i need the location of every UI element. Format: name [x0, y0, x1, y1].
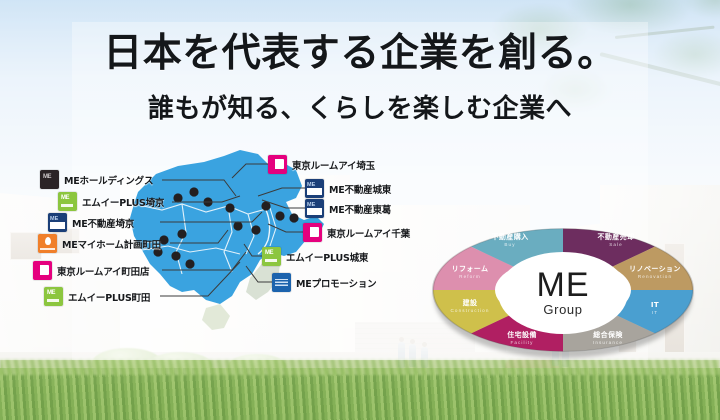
- me-fudosan-joto-logo-icon: [305, 179, 324, 198]
- map-label-me-plus-joto[interactable]: エムイーPLUS城東: [262, 247, 368, 266]
- map-label-text: エムイーPLUS埼京: [82, 195, 164, 209]
- me-plus-machida-logo-icon: [44, 287, 63, 306]
- hero-banner: 日本を代表する企業を創る。 誰もが知る、くらしを楽しむ企業へ: [0, 0, 720, 420]
- map-label-text: ME不動産城東: [329, 182, 391, 196]
- map-label-me-plus-saikyo[interactable]: エムイーPLUS埼京: [58, 192, 164, 211]
- map-label-text: ME不動産埼京: [72, 216, 134, 230]
- map-label-me-myhome-machida[interactable]: MEマイホーム計画町田: [38, 234, 161, 253]
- map-label-text: エムイーPLUS城東: [286, 250, 368, 264]
- map-label-text: 東京ルームアイ町田店: [57, 264, 149, 278]
- me-fudosan-tokatsu-logo-icon: [305, 199, 324, 218]
- tokyo-roomi-machida-logo-icon: [33, 261, 52, 280]
- me-promotion-logo-icon: [272, 273, 291, 292]
- me-holdings-logo-icon: [40, 170, 59, 189]
- headline-block: 日本を代表する企業を創る。 誰もが知る、くらしを楽しむ企業へ: [0, 32, 720, 125]
- map-label-me-promotion[interactable]: MEプロモーション: [272, 273, 376, 292]
- map-label-text: 東京ルームアイ埼玉: [292, 158, 375, 172]
- map-label-tokyo-roomi-saitama[interactable]: 東京ルームアイ埼玉: [268, 155, 375, 174]
- me-myhome-machida-logo-icon: [38, 234, 57, 253]
- map-label-text: ME不動産東葛: [329, 202, 391, 216]
- tokyo-roomi-chiba-logo-icon: [303, 223, 322, 242]
- me-plus-saikyo-logo-icon: [58, 192, 77, 211]
- map-label-text: エムイーPLUS町田: [68, 290, 150, 304]
- map-label-me-holdings[interactable]: MEホールディングス: [40, 170, 153, 189]
- tokyo-roomi-saitama-logo-icon: [268, 155, 287, 174]
- me-group-title: ME: [537, 269, 590, 301]
- map-label-tokyo-roomi-chiba[interactable]: 東京ルームアイ千葉: [303, 223, 410, 242]
- map-label-me-fudosan-saikyo[interactable]: ME不動産埼京: [48, 213, 134, 232]
- me-plus-joto-logo-icon: [262, 247, 281, 266]
- me-group-center: ME Group: [498, 252, 628, 334]
- map-label-text: MEホールディングス: [64, 173, 153, 187]
- headline-primary: 日本を代表する企業を創る。: [0, 32, 720, 76]
- map-label-text: 東京ルームアイ千葉: [327, 226, 410, 240]
- me-group-diagram: 不動産購入 Buy 不動産売却 Sale リノベーション Renovation …: [428, 224, 698, 362]
- hedge: [0, 368, 720, 420]
- me-fudosan-saikyo-logo-icon: [48, 213, 67, 232]
- map-label-tokyo-roomi-machida[interactable]: 東京ルームアイ町田店: [33, 261, 149, 280]
- headline-secondary: 誰もが知る、くらしを楽しむ企業へ: [0, 88, 720, 125]
- map-label-text: MEプロモーション: [296, 276, 376, 290]
- map-label-me-fudosan-joto[interactable]: ME不動産城東: [305, 179, 391, 198]
- map-label-text: MEマイホーム計画町田: [62, 237, 161, 251]
- map-label-me-fudosan-tokatsu[interactable]: ME不動産東葛: [305, 199, 391, 218]
- map-label-me-plus-machida[interactable]: エムイーPLUS町田: [44, 287, 150, 306]
- me-group-subtitle: Group: [543, 302, 582, 317]
